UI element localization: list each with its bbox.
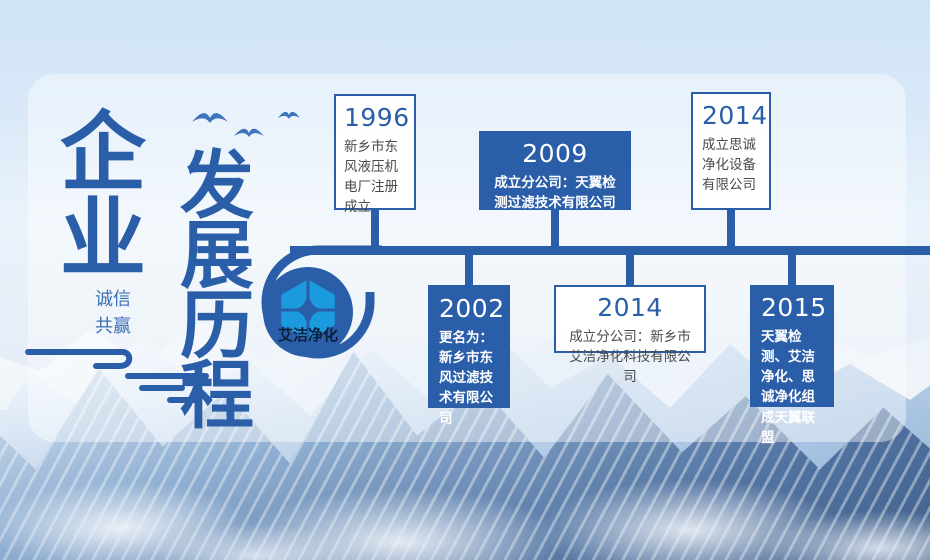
timeline-card-year: 2015 xyxy=(761,294,824,322)
stem-2002 xyxy=(465,253,473,287)
cloud-ornament-icon xyxy=(10,330,220,410)
timeline-card-2015[interactable]: 2015 天翼检测、艾洁净化、思诚净化组成天翼联盟 xyxy=(750,285,834,407)
stem-2014b xyxy=(727,208,735,250)
subtitle-line-1: 诚信 xyxy=(72,286,154,313)
title-char-1: 企 xyxy=(60,114,146,193)
logo-brand-text: 艾洁净化 xyxy=(278,326,338,344)
timeline-card-2014-aijie[interactable]: 2014 成立分公司：新乡市艾洁净化科技有限公司 xyxy=(554,285,706,353)
timeline-card-text: 成立分公司：新乡市艾洁净化科技有限公司 xyxy=(566,327,694,388)
timeline-card-2009[interactable]: 2009 成立分公司：天翼检测过滤技术有限公司 xyxy=(479,131,631,210)
timeline-card-year: 1996 xyxy=(344,104,406,132)
timeline-card-2014-sicheng[interactable]: 2014 成立思诚净化设备有限公司 xyxy=(691,92,771,210)
poster-canvas: 企 业 发 展 历 程 诚信 共赢 艾洁净化 1996 新乡市 xyxy=(0,0,930,560)
timeline-card-1996[interactable]: 1996 新乡市东风液压机电厂注册成立 xyxy=(334,94,416,210)
timeline-card-2002[interactable]: 2002 更名为：新乡市东风过滤技术有限公司 xyxy=(428,285,510,408)
stem-2009 xyxy=(551,208,559,250)
timeline-card-text: 天翼检测、艾洁净化、思诚净化组成天翼联盟 xyxy=(761,327,824,449)
timeline-card-year: 2014 xyxy=(702,102,760,130)
title-char-3: 发 xyxy=(180,152,254,220)
timeline-card-year: 2014 xyxy=(566,294,694,322)
timeline-card-text: 成立分公司：天翼检测过滤技术有限公司 xyxy=(491,173,619,214)
stem-2014a xyxy=(626,253,634,287)
timeline-card-year: 2002 xyxy=(439,295,500,323)
company-logo: 艾洁净化 xyxy=(262,266,354,358)
stem-2015 xyxy=(788,253,796,287)
timeline-card-text: 新乡市东风液压机电厂注册成立 xyxy=(344,137,406,218)
timeline-card-text: 成立思诚净化设备有限公司 xyxy=(702,135,760,196)
timeline-axis xyxy=(290,246,930,255)
title-char-2: 业 xyxy=(60,200,146,279)
timeline-card-text: 更名为：新乡市东风过滤技术有限公司 xyxy=(439,328,500,429)
timeline-card-year: 2009 xyxy=(491,140,619,168)
